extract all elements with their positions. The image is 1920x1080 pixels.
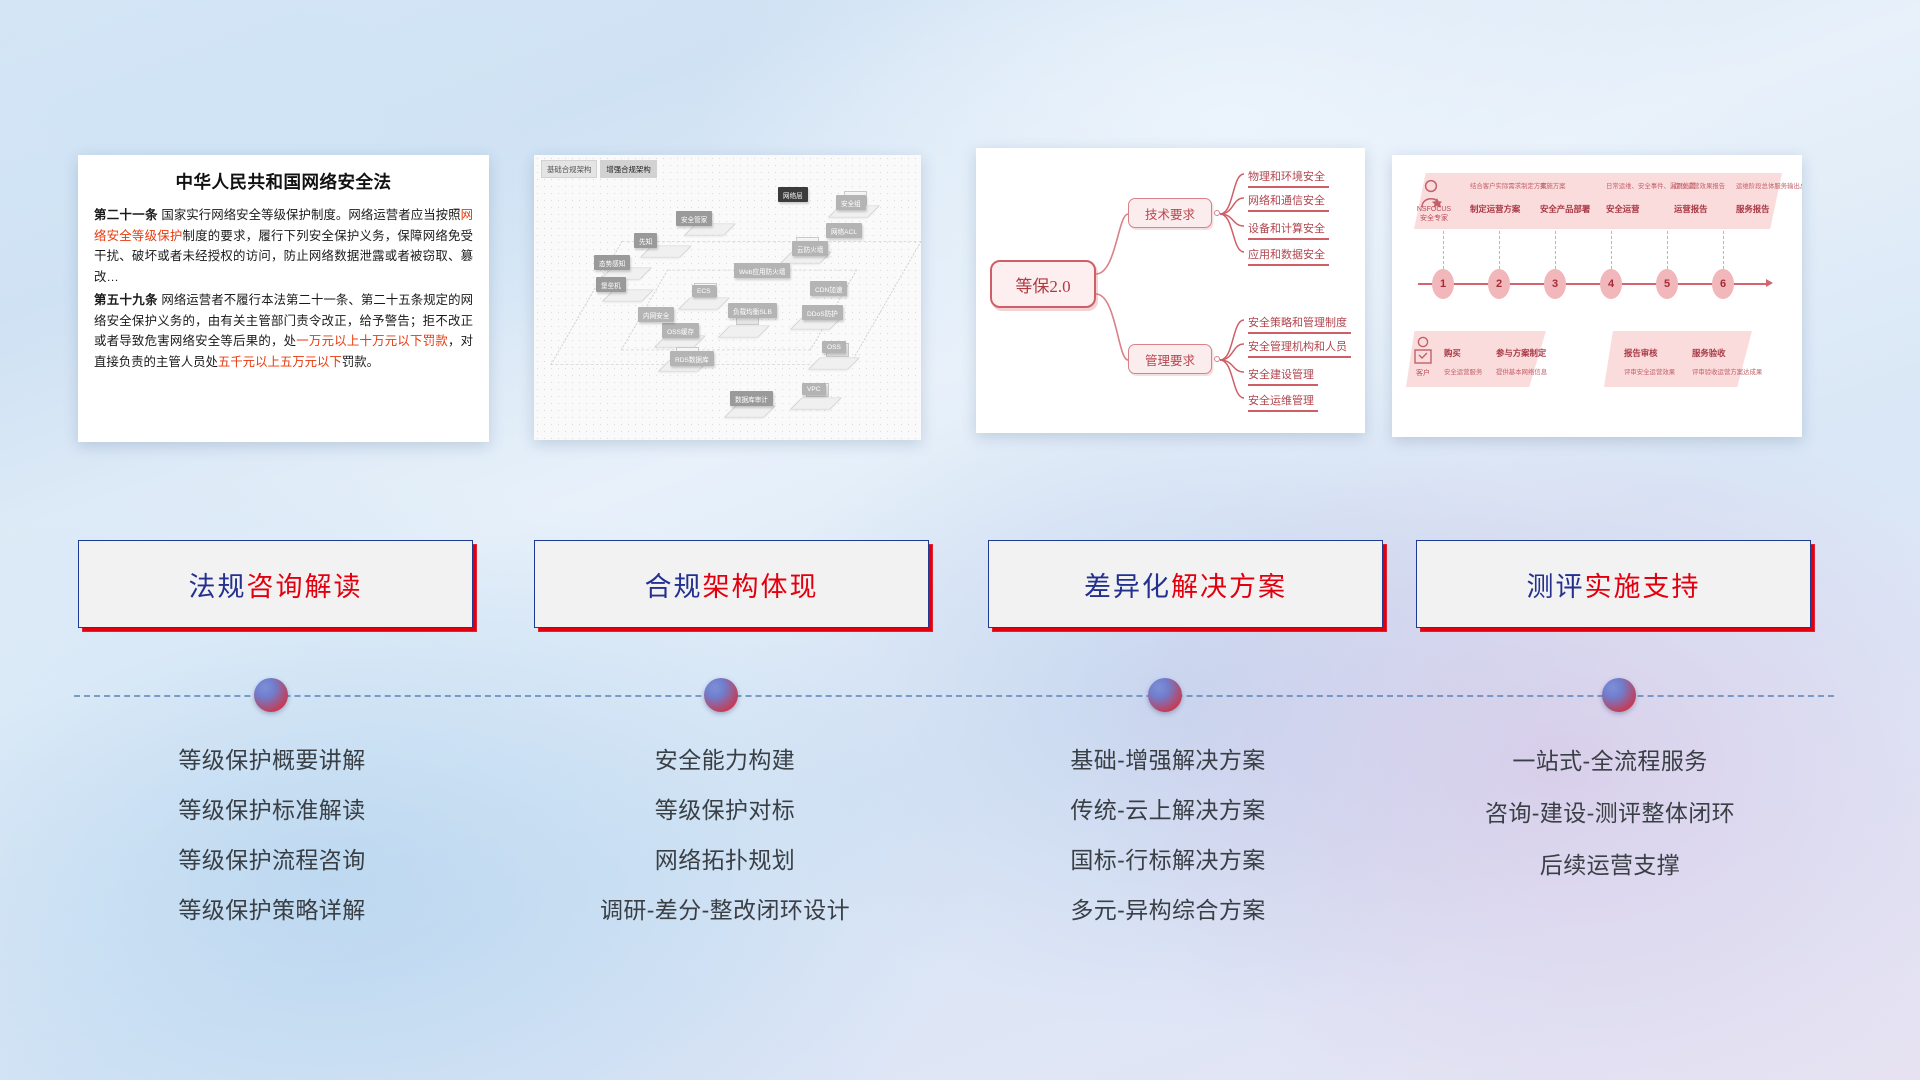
flow-step-connector [1723, 231, 1724, 269]
architecture-node: OSS缓存 [662, 323, 699, 338]
headline-1-blue: 法规 [189, 572, 247, 602]
law-highlight: 五千元以上五万元以下 [218, 355, 342, 369]
architecture-node: CDN加速 [810, 281, 847, 296]
mindmap-leaf: 安全管理机构和人员 [1248, 338, 1347, 354]
headline-text-2: 合规架构体现 [645, 565, 819, 604]
mindmap-root-node: 等保2.0 [990, 260, 1096, 308]
mindmap-leaf-underline [1248, 264, 1329, 266]
list-item: 后续运营支撑 [1400, 839, 1820, 891]
architecture-node: RDS数据库 [670, 351, 714, 366]
list-item: 等级保护流程咨询 [62, 835, 482, 885]
flow-expert-label: 安全产品部署 [1540, 203, 1590, 215]
flow-step-connector [1611, 231, 1612, 269]
flow-step-6[interactable]: 6 [1712, 269, 1734, 299]
headline-2-red: 架构体现 [703, 572, 819, 602]
detail-list-2: 安全能力构建等级保护对标网络拓扑规划调研-差分-整改闭环设计 [515, 735, 935, 935]
flow-expert-subtext: 定位运营效果报告 [1674, 181, 1725, 190]
law-article-21-label: 第二十一条 [94, 208, 158, 222]
timeline-dot-3[interactable] [1148, 678, 1182, 712]
detail-lists: 等级保护概要讲解等级保护标准解读等级保护流程咨询等级保护策略详解 安全能力构建等… [0, 735, 1920, 975]
customer-role-label: 客户 [1410, 369, 1436, 378]
flow-expert-label: 服务报告 [1736, 203, 1770, 215]
list-item: 等级保护标准解读 [62, 785, 482, 835]
law-article-59-label: 第五十九条 [94, 293, 158, 307]
flow-customer-subtext: 安全运营服务 [1444, 367, 1482, 376]
headline-text-3: 差异化解决方案 [1084, 565, 1287, 604]
list-item: 调研-差分-整改闭环设计 [515, 885, 935, 935]
mindmap-branch-technical: 技术要求 [1128, 198, 1212, 228]
flow-step-connector [1667, 231, 1668, 269]
architecture-node: Web应用防火墙 [734, 263, 790, 278]
mindmap-leaf-underline [1248, 210, 1329, 212]
list-item: 基础-增强解决方案 [958, 735, 1378, 785]
mindmap-leaf-underline [1248, 332, 1351, 334]
architecture-node: DDoS防护 [802, 305, 843, 320]
timeline-line [74, 695, 1834, 697]
mindmap-leaf-underline [1248, 384, 1318, 386]
flow-expert-subtext: 结合客户实际需求制定方案 [1470, 181, 1547, 190]
law-plain: 罚款。 [342, 355, 379, 369]
architecture-node: 堡垒机 [596, 277, 626, 292]
flow-expert-label: 制定运营方案 [1470, 203, 1520, 215]
list-item: 传统-云上解决方案 [958, 785, 1378, 835]
law-article-21: 第二十一条 国家实行网络安全等级保护制度。网络运营者应当按照网络安全等级保护制度… [94, 205, 473, 287]
mindmap-connector-dot [1214, 356, 1220, 362]
headline-box-4[interactable]: 测评实施支持 [1416, 540, 1811, 628]
cards-row: 中华人民共和国网络安全法 第二十一条 国家实行网络安全等级保护制度。网络运营者应… [0, 0, 1920, 445]
headline-box-3[interactable]: 差异化解决方案 [988, 540, 1383, 628]
law-article-59: 第五十九条 网络运营者不履行本法第二十一条、第二十五条规定的网络安全保护义务的，… [94, 290, 473, 372]
architecture-node: ECS [692, 285, 716, 297]
headline-text-1: 法规咨询解读 [189, 565, 363, 604]
flow-step-connector [1555, 231, 1556, 269]
headline-text-4: 测评实施支持 [1527, 565, 1701, 604]
flow-expert-label: 安全运营 [1606, 203, 1640, 215]
mindmap-connector-dot [1214, 210, 1220, 216]
service-flow-diagram: NSFOCUS 安全专家 客户 123456 结合客户实际需求制定方案制定运营方… [1392, 155, 1802, 437]
headline-box-2[interactable]: 合规架构体现 [534, 540, 929, 628]
law-body: 中华人民共和国网络安全法 第二十一条 国家实行网络安全等级保护制度。网络运营者应… [78, 155, 489, 385]
list-item: 等级保护概要讲解 [62, 735, 482, 785]
detail-list-3: 基础-增强解决方案传统-云上解决方案国标-行标解决方案多元-异构综合方案 [958, 735, 1378, 935]
headline-1-red: 咨询解读 [247, 572, 363, 602]
flow-expert-subtext: 运维阶段总体服务输出总体运营效果 [1736, 181, 1802, 190]
architecture-node: 负载均衡SLB [728, 303, 777, 318]
expert-role-line1: NSFOCUS [1417, 206, 1451, 213]
list-item: 一站式-全流程服务 [1400, 735, 1820, 787]
law-title: 中华人民共和国网络安全法 [94, 169, 473, 194]
flow-step-connector [1443, 231, 1444, 269]
flow-customer-label: 服务验收 [1692, 347, 1726, 359]
flow-step-3[interactable]: 3 [1544, 269, 1566, 299]
timeline [0, 660, 1920, 720]
list-item: 国标-行标解决方案 [958, 835, 1378, 885]
architecture-diagram: 基础合规架构增强合规架构 [534, 155, 921, 440]
architecture-node: 数据库审计 [730, 391, 773, 406]
architecture-tabs[interactable]: 基础合规架构增强合规架构 [541, 160, 657, 178]
list-item: 等级保护对标 [515, 785, 935, 835]
mindmap-leaf: 设备和计算安全 [1248, 220, 1325, 236]
mindmap-leaf: 网络和通信安全 [1248, 192, 1325, 208]
headline-3-blue: 差异化 [1084, 572, 1171, 602]
customer-person-icon [1412, 335, 1434, 369]
flow-customer-subtext: 评审验收运营方案达成果 [1692, 367, 1762, 376]
mindmap-leaf: 安全建设管理 [1248, 366, 1314, 382]
mindmap-leaf: 安全策略和管理制度 [1248, 314, 1347, 330]
mindmap-leaf-underline [1248, 356, 1351, 358]
mindmap-leaf: 物理和环境安全 [1248, 168, 1325, 184]
flow-expert-label: 运营报告 [1674, 203, 1708, 215]
mindmap-leaf: 应用和数据安全 [1248, 246, 1325, 262]
flow-customer-label: 参与方案制定 [1496, 347, 1546, 359]
timeline-dot-1[interactable] [254, 678, 288, 712]
list-item: 网络拓扑规划 [515, 835, 935, 885]
timeline-dot-2[interactable] [704, 678, 738, 712]
timeline-dot-4[interactable] [1602, 678, 1636, 712]
architecture-plate [790, 398, 842, 410]
mindmap-leaf-underline [1248, 238, 1329, 240]
flow-step-connector [1499, 231, 1500, 269]
headline-4-red: 实施支持 [1585, 572, 1701, 602]
headline-3-red: 解决方案 [1171, 572, 1287, 602]
detail-list-4: 一站式-全流程服务咨询-建设-测评整体闭环后续运营支撑 [1400, 735, 1820, 891]
mindmap-leaf-underline [1248, 410, 1318, 412]
card-dengbao-mindmap[interactable]: 等保2.0 技术要求 管理要求 物理和环境安全网络和通信安全设备和计算安全应用和… [976, 148, 1365, 433]
flow-step-5[interactable]: 5 [1656, 269, 1678, 299]
slide-canvas: 中华人民共和国网络安全法 第二十一条 国家实行网络安全等级保护制度。网络运营者应… [0, 0, 1920, 1080]
architecture-node: VPC [802, 383, 826, 395]
flow-customer-label: 报告审核 [1624, 347, 1658, 359]
mindmap-leaf: 安全运维管理 [1248, 392, 1314, 408]
architecture-node: 安全组 [836, 195, 866, 210]
architecture-node: 态势感知 [594, 255, 630, 270]
architecture-node: 先知 [634, 233, 657, 248]
architecture-node: OSS [822, 341, 846, 353]
architecture-node: 安全管家 [676, 211, 712, 226]
expert-role-line2: 安全专家 [1420, 215, 1448, 222]
list-item: 安全能力构建 [515, 735, 935, 785]
architecture-node: 云防火墙 [792, 241, 828, 256]
list-item: 多元-异构综合方案 [958, 885, 1378, 935]
flow-expert-subtext: 实施方案 [1540, 181, 1566, 190]
architecture-tab-2[interactable]: 增强合规架构 [600, 160, 656, 178]
headline-box-1[interactable]: 法规咨询解读 [78, 540, 473, 628]
architecture-plate [724, 406, 776, 418]
architecture-node: 网络层 [778, 187, 808, 202]
flow-step-2[interactable]: 2 [1488, 269, 1510, 299]
law-highlight: 一万元以上十万元以下罚款 [296, 334, 448, 348]
architecture-node: 网络ACL [826, 223, 862, 238]
flow-customer-label: 购买 [1444, 347, 1461, 359]
headline-row: 法规咨询解读 合规架构体现 差异化解决方案 测评实施支持 [0, 540, 1920, 640]
flow-customer-subtext: 评审安全运营效果 [1624, 367, 1675, 376]
detail-list-1: 等级保护概要讲解等级保护标准解读等级保护流程咨询等级保护策略详解 [62, 735, 482, 935]
mindmap-branch-management: 管理要求 [1128, 344, 1212, 374]
headline-4-blue: 测评 [1527, 572, 1585, 602]
flow-axis-arrow-icon [1766, 279, 1773, 287]
flow-step-4[interactable]: 4 [1600, 269, 1622, 299]
flow-customer-subtext: 提供基本网络信息 [1496, 367, 1547, 376]
list-item: 咨询-建设-测评整体闭环 [1400, 787, 1820, 839]
architecture-tab-1[interactable]: 基础合规架构 [541, 160, 597, 178]
flow-band-customer-right [1604, 331, 1752, 387]
card-nsfocus-service-flow[interactable]: NSFOCUS 安全专家 客户 123456 结合客户实际需求制定方案制定运营方… [1392, 155, 1802, 437]
card-cybersecurity-law[interactable]: 中华人民共和国网络安全法 第二十一条 国家实行网络安全等级保护制度。网络运营者应… [78, 155, 489, 442]
headline-2-blue: 合规 [645, 572, 703, 602]
list-item: 等级保护策略详解 [62, 885, 482, 935]
architecture-node: 内网安全 [638, 307, 674, 322]
card-compliance-architecture[interactable]: 基础合规架构增强合规架构 [534, 155, 921, 440]
mindmap: 等保2.0 技术要求 管理要求 物理和环境安全网络和通信安全设备和计算安全应用和… [976, 148, 1365, 433]
flow-step-1[interactable]: 1 [1432, 269, 1454, 299]
law-plain: 国家实行网络安全等级保护制度。网络运营者应当按照 [158, 208, 461, 222]
mindmap-leaf-underline [1248, 186, 1329, 188]
expert-role-label: NSFOCUS 安全专家 [1408, 205, 1460, 223]
